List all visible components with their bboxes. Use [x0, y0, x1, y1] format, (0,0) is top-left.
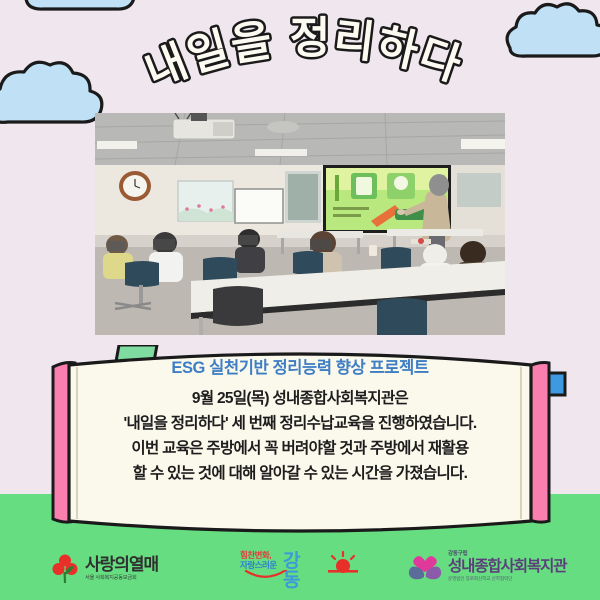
- note-line-4: 할 수 있는 것에 대해 알아갈 수 있는 시간을 가졌습니다.: [85, 461, 515, 486]
- note-line-2: '내일을 정리하다' 세 번째 정리수납교육을 진행하였습니다.: [85, 411, 515, 436]
- seongnae-name: 성내종합사회복지관: [448, 559, 566, 575]
- title-text: 내일을 정리하다: [139, 14, 469, 97]
- note-line-1: 9월 25일(목) 성내종합사회복지관은: [85, 386, 515, 411]
- sarang-text-block: 사랑의열매 서울 사회복지공동모금회: [85, 556, 158, 581]
- logo-gangdong: 힘찬변화, 자랑스러운 강동: [238, 551, 277, 569]
- sarang-name: 사랑의열매: [85, 556, 158, 573]
- title-svg: 내일을 정리하다: [0, 0, 600, 112]
- footer-logos: 사랑의열매 서울 사회복지공동모금회 힘찬변화, 자랑스러운 강동: [0, 494, 600, 600]
- three-hearts-icon: [408, 552, 442, 582]
- classroom-training-photo: [95, 113, 505, 335]
- svg-text:내일을 정리하다: 내일을 정리하다: [139, 14, 469, 97]
- smile-curve-icon: [244, 570, 288, 580]
- sarang-subtitle: 서울 사회복지공동모금회: [85, 576, 158, 581]
- fruit-icon: [52, 554, 78, 584]
- seongnae-subtitle: 운영법인 장로회신학교 산학협력단: [448, 577, 566, 582]
- poster-title: 내일을 정리하다: [0, 0, 600, 112]
- seongnae-text-block: 강동구립 성내종합사회복지관 운영법인 장로회신학교 산학협력단: [448, 552, 566, 581]
- wall-clock: [119, 171, 151, 201]
- logo-seongnae: 강동구립 성내종합사회복지관 운영법인 장로회신학교 산학협력단: [408, 552, 566, 582]
- sunrise-icon: [326, 551, 360, 577]
- poster-card: 내일을 정리하다: [0, 0, 600, 600]
- gangdong-slogan-block: 힘찬변화, 자랑스러운: [240, 551, 277, 569]
- note-line-3: 이번 교육은 주방에서 꼭 버려야할 것과 주방에서 재활용: [85, 436, 515, 461]
- photo-illustration: [95, 113, 505, 335]
- gangdong-slogan-line1: 힘찬변화,: [240, 551, 277, 560]
- logo-sarang-yeolmae: 사랑의열매 서울 사회복지공동모금회: [52, 554, 158, 584]
- note-text-block: ESG 실천기반 정리능력 향상 프로젝트 9월 25일(목) 성내종합사회복지…: [85, 359, 515, 486]
- note-heading: ESG 실천기반 정리능력 향상 프로젝트: [85, 359, 515, 379]
- gangdong-slogan-line2: 자랑스러운: [240, 561, 277, 570]
